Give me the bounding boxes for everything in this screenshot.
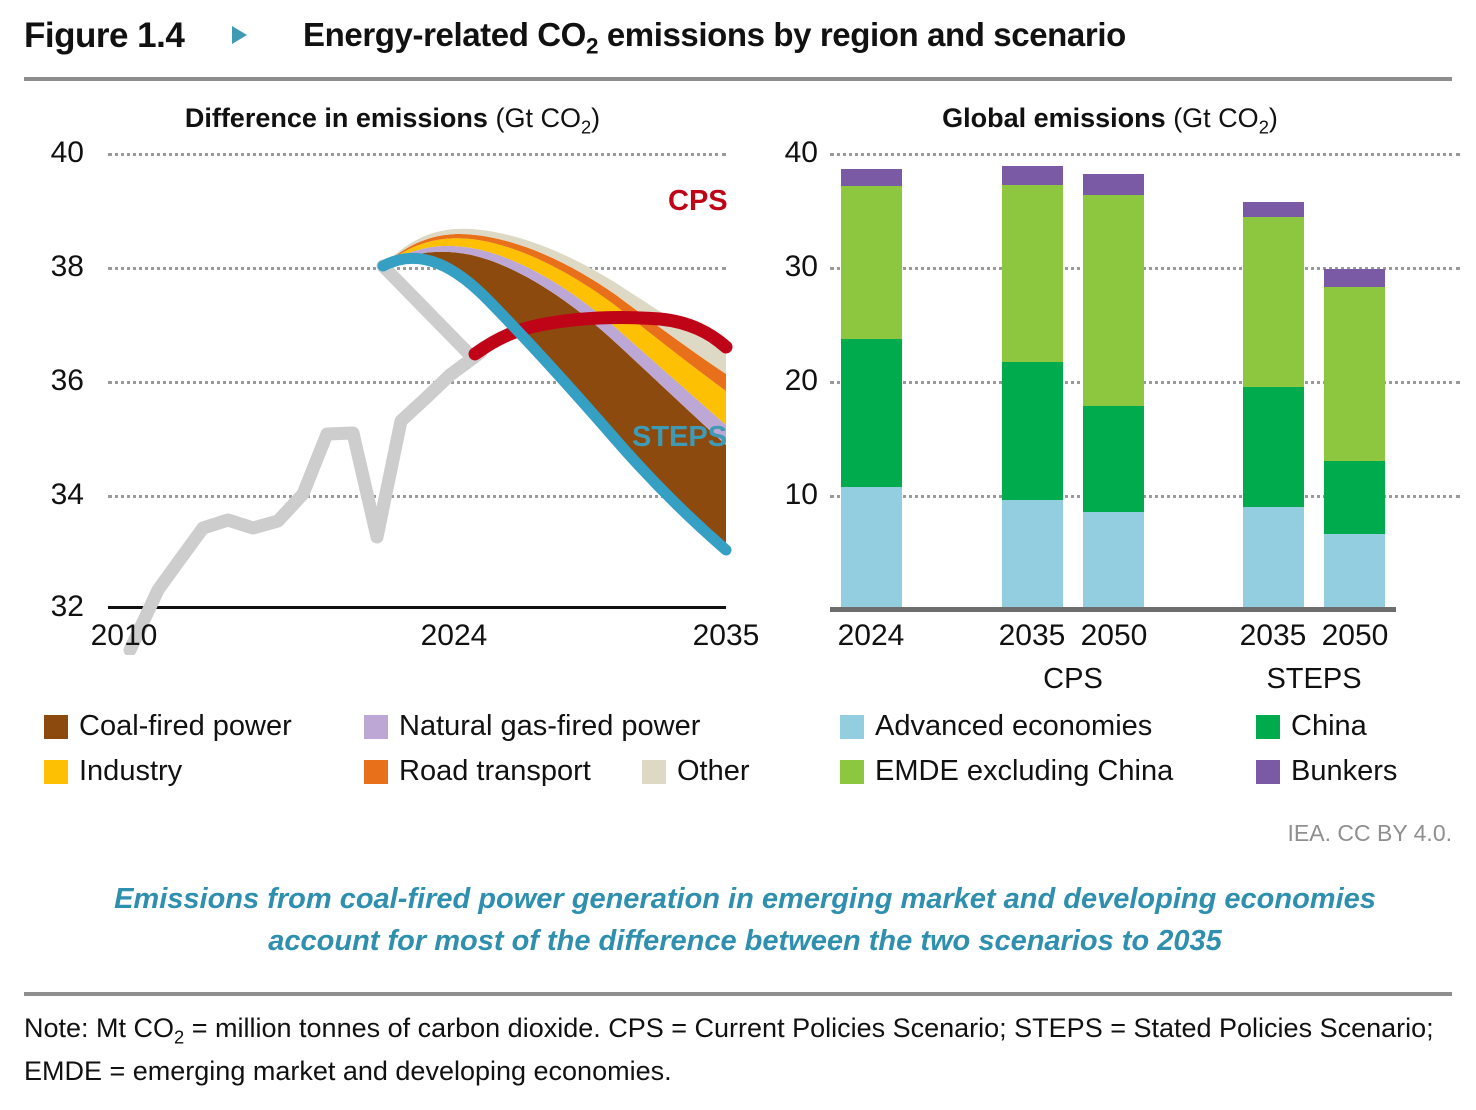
left-xtick-2035: 2035	[693, 619, 760, 653]
historical-line	[130, 266, 473, 650]
figure-note: Note: Mt CO2 = million tonnes of carbon …	[24, 1008, 1454, 1091]
figure-number: Figure 1.4	[24, 16, 184, 56]
bar-segment-bunkers	[841, 169, 902, 186]
figure-caption: Emissions from coal-fired power generati…	[100, 878, 1390, 962]
bar-2035-steps[interactable]	[1243, 202, 1304, 607]
legend-label-coal-fired-power: Coal-fired power	[79, 712, 292, 741]
figure-header: Figure 1.4 Energy-related CO2 emissions …	[0, 0, 1476, 80]
triangle-right-icon	[232, 26, 247, 44]
bar-segment-china	[1002, 362, 1063, 500]
cps-series-label: CPS	[668, 185, 728, 218]
bar-segment-bunkers	[1083, 174, 1144, 195]
legend-label-industry: Industry	[79, 757, 182, 786]
footer-divider	[24, 992, 1452, 996]
right-chart-panel: Global emissions (Gt CO2) 40 30 20 10	[760, 95, 1460, 655]
left-xtick-2010: 2010	[91, 619, 158, 653]
right-xtick-2050-cps: 2050	[1081, 619, 1148, 653]
legend-swatch-emde-excluding-china	[840, 760, 864, 784]
legend-label-emde-excluding-china: EMDE excluding China	[875, 757, 1173, 786]
legend-label-china: China	[1291, 712, 1367, 741]
right-xgroup-steps: STEPS	[1266, 663, 1361, 696]
right-xtick-2035-steps: 2035	[1240, 619, 1307, 653]
legend-item-coal-fired-power[interactable]: Coal-fired power	[44, 712, 292, 741]
bar-segment-emde	[1002, 185, 1063, 362]
bar-segment-emde	[1243, 217, 1304, 387]
right-gridline-40	[830, 153, 1460, 156]
bar-segment-emde	[1324, 287, 1385, 461]
legend-right: Advanced economies China EMDE excluding …	[840, 712, 1460, 804]
legend-label-road-transport: Road transport	[399, 757, 591, 786]
bar-segment-advanced	[841, 487, 902, 607]
left-xtick-2024: 2024	[421, 619, 488, 653]
iea-credit: IEA. CC BY 4.0.	[1288, 820, 1452, 847]
bar-segment-advanced	[1243, 507, 1304, 607]
right-chart-title: Global emissions (Gt CO2)	[760, 103, 1460, 138]
bar-2035-cps[interactable]	[1002, 166, 1063, 607]
steps-series-label: STEPS	[632, 421, 727, 454]
legend-item-advanced-economies[interactable]: Advanced economies	[840, 712, 1152, 741]
legend-label-other: Other	[677, 757, 750, 786]
bar-segment-advanced	[1324, 534, 1385, 607]
right-ytick-40: 40	[754, 136, 818, 170]
legend-item-industry[interactable]: Industry	[44, 757, 182, 786]
legend-item-other[interactable]: Other	[642, 757, 750, 786]
left-chart-panel: Difference in emissions (Gt CO2) 40 38 3…	[20, 95, 765, 655]
bar-2050-cps[interactable]	[1083, 174, 1144, 607]
figure-title: Energy-related CO2 emissions by region a…	[303, 16, 1126, 60]
right-chart-title-text: Global emissions	[942, 103, 1166, 133]
header-divider	[24, 77, 1452, 81]
legend-swatch-bunkers	[1256, 760, 1280, 784]
legend-swatch-road-transport	[364, 760, 388, 784]
legend-item-emde-excluding-china[interactable]: EMDE excluding China	[840, 757, 1173, 786]
right-xtick-2024: 2024	[838, 619, 905, 653]
legend-swatch-industry	[44, 760, 68, 784]
bar-segment-emde	[841, 186, 902, 339]
bar-segment-bunkers	[1324, 269, 1385, 287]
right-xgroup-cps: CPS	[1043, 663, 1103, 696]
bar-segment-china	[1083, 406, 1144, 512]
right-chart-unit: (Gt CO2)	[1173, 103, 1278, 133]
legend-swatch-natural-gas-fired-power	[364, 715, 388, 739]
bar-2050-steps[interactable]	[1324, 269, 1385, 607]
bar-segment-bunkers	[1002, 166, 1063, 185]
bar-segment-advanced	[1002, 500, 1063, 607]
right-ytick-10: 10	[754, 478, 818, 512]
bar-segment-emde	[1083, 195, 1144, 406]
legend-item-road-transport[interactable]: Road transport	[364, 757, 591, 786]
bar-2024[interactable]	[841, 169, 902, 607]
legend-swatch-coal-fired-power	[44, 715, 68, 739]
legend-left: Coal-fired power Natural gas-fired power…	[44, 712, 764, 804]
right-ytick-20: 20	[754, 364, 818, 398]
bar-segment-china	[1243, 387, 1304, 507]
right-xtick-2050-steps: 2050	[1322, 619, 1389, 653]
legend-label-natural-gas-fired-power: Natural gas-fired power	[399, 712, 700, 741]
right-x-axis	[830, 607, 1396, 612]
legend-item-natural-gas-fired-power[interactable]: Natural gas-fired power	[364, 712, 700, 741]
bar-segment-advanced	[1083, 512, 1144, 607]
legend-swatch-advanced-economies	[840, 715, 864, 739]
bar-segment-china	[1324, 461, 1385, 534]
right-xtick-2035-cps: 2035	[999, 619, 1066, 653]
legend-swatch-china	[1256, 715, 1280, 739]
legend-item-china[interactable]: China	[1256, 712, 1367, 741]
right-ytick-30: 30	[754, 250, 818, 284]
legend-swatch-other	[642, 760, 666, 784]
legend-label-advanced-economies: Advanced economies	[875, 712, 1152, 741]
bar-segment-china	[841, 339, 902, 487]
legend-label-bunkers: Bunkers	[1291, 757, 1397, 786]
left-chart-plot	[20, 95, 765, 655]
bar-segment-bunkers	[1243, 202, 1304, 217]
legend-item-bunkers[interactable]: Bunkers	[1256, 757, 1397, 786]
